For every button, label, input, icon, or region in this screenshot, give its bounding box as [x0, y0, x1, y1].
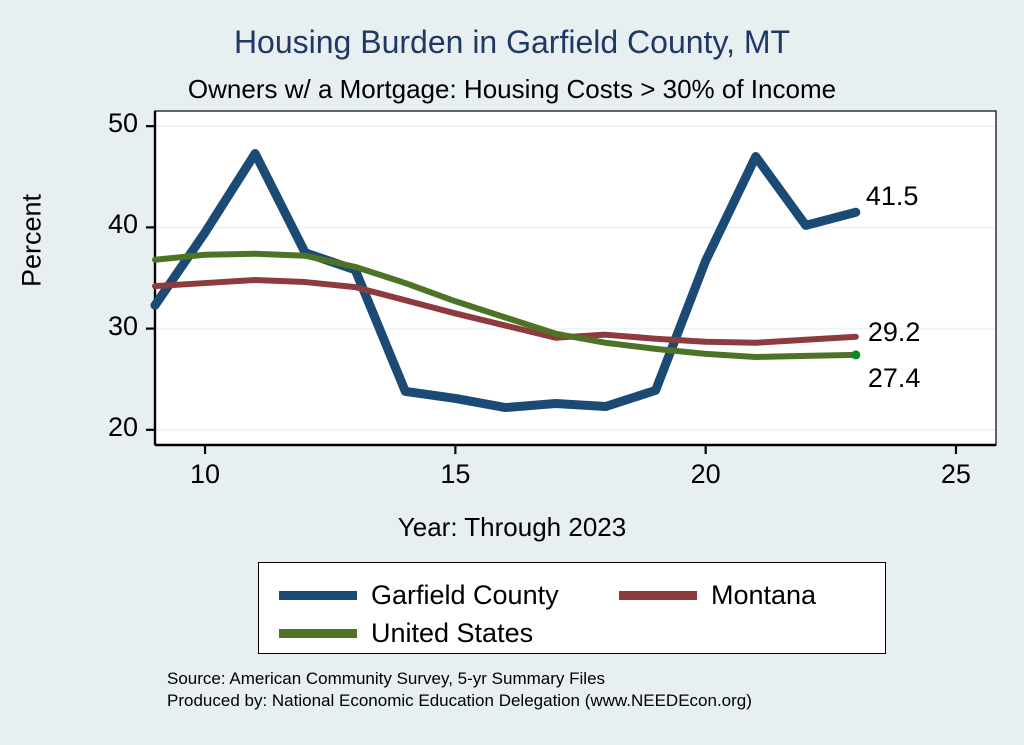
legend-item-garfield-county: Garfield County [279, 582, 559, 609]
y-tick-label: 20 [78, 412, 138, 443]
footer-credits: Source: American Community Survey, 5-yr … [167, 668, 752, 713]
footer-producer-line: Produced by: National Economic Education… [167, 690, 752, 712]
legend-swatch-montana [619, 591, 697, 600]
x-tick-label: 10 [165, 459, 245, 490]
data-label-montana: 29.2 [868, 317, 921, 348]
legend-label-montana: Montana [711, 582, 816, 609]
legend-swatch-garfield-county [279, 591, 357, 600]
plot-background [155, 111, 996, 445]
y-tick-label: 30 [78, 311, 138, 342]
y-tick-label: 40 [78, 209, 138, 240]
plot-canvas [0, 0, 1024, 500]
legend-item-montana: Montana [619, 582, 816, 609]
legend: Garfield County Montana United States [258, 562, 886, 654]
legend-label-united-states: United States [371, 620, 533, 647]
legend-swatch-united-states [279, 629, 357, 638]
y-tick-label: 50 [78, 108, 138, 139]
x-axis-label: Year: Through 2023 [0, 512, 1024, 543]
footer-source-line: Source: American Community Survey, 5-yr … [167, 668, 752, 690]
series-endpoint-marker-united-states [851, 350, 860, 359]
legend-label-garfield-county: Garfield County [371, 582, 559, 609]
x-tick-label: 25 [916, 459, 996, 490]
legend-item-united-states: United States [279, 620, 533, 647]
x-tick-label: 20 [666, 459, 746, 490]
x-tick-label: 15 [415, 459, 495, 490]
data-label-united-states: 27.4 [868, 363, 921, 394]
chart-figure: Housing Burden in Garfield County, MT Ow… [0, 0, 1024, 745]
data-label-garfield-county: 41.5 [866, 181, 919, 212]
